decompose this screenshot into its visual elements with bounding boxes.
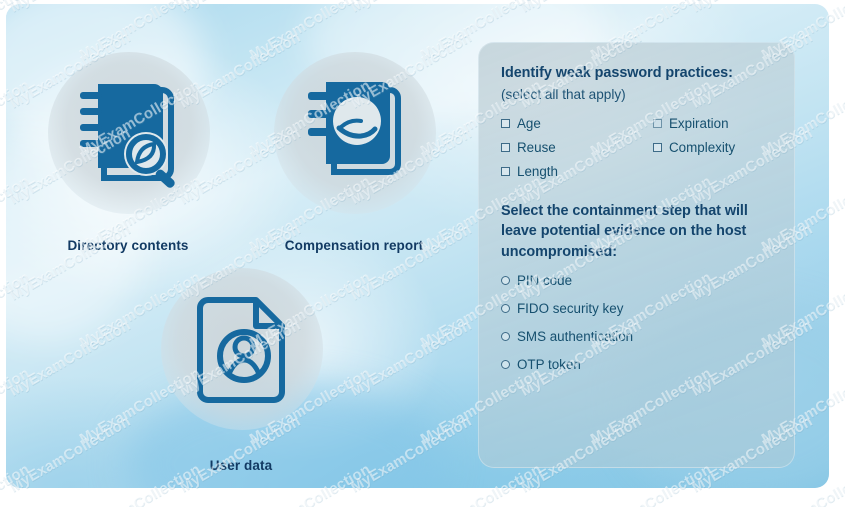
radio-option-pin-code[interactable]: PIN code xyxy=(501,273,772,288)
radio-circle[interactable] xyxy=(501,332,510,341)
question2-options: PIN code FIDO security key SMS authentic… xyxy=(501,273,772,372)
checkbox-option-complexity[interactable]: Complexity xyxy=(653,140,772,155)
radio-label: OTP token xyxy=(517,357,581,372)
checkbox-box[interactable] xyxy=(501,119,510,128)
radio-label: PIN code xyxy=(517,273,572,288)
icon-option-label: User data xyxy=(143,458,339,473)
address-book-search-icon xyxy=(74,78,186,195)
question2-title: Select the containment step that will le… xyxy=(501,201,772,262)
question1-title: Identify weak password practices: xyxy=(501,63,772,83)
checkbox-box[interactable] xyxy=(653,143,662,152)
radio-option-fido-security-key[interactable]: FIDO security key xyxy=(501,301,772,316)
radio-label: FIDO security key xyxy=(517,301,623,316)
checkbox-option-expiration[interactable]: Expiration xyxy=(653,116,772,131)
question1-options: Age Expiration Reuse Complexity Length xyxy=(501,116,772,179)
radio-label: SMS authentication xyxy=(517,329,633,344)
icon-option-label: Directory contents xyxy=(30,238,226,253)
icon-option-directory-contents[interactable]: Directory contents xyxy=(30,48,226,260)
book-helping-hand-icon xyxy=(300,76,412,193)
radio-option-sms-authentication[interactable]: SMS authentication xyxy=(501,329,772,344)
checkbox-box[interactable] xyxy=(501,167,510,176)
radio-circle[interactable] xyxy=(501,360,510,369)
checkbox-label: Expiration xyxy=(669,116,729,131)
radio-circle[interactable] xyxy=(501,276,510,285)
checkbox-label: Reuse xyxy=(517,140,556,155)
icon-option-compensation-report[interactable]: Compensation report xyxy=(256,48,452,260)
document-user-icon xyxy=(190,294,298,411)
question1-subtitle: (select all that apply) xyxy=(501,86,772,104)
checkbox-option-reuse[interactable]: Reuse xyxy=(501,140,653,155)
checkbox-box[interactable] xyxy=(501,143,510,152)
screenshot-root: Directory contents xyxy=(0,0,845,507)
checkbox-label: Complexity xyxy=(669,140,735,155)
icon-options-area: Directory contents xyxy=(6,4,472,488)
checkbox-label: Age xyxy=(517,116,541,131)
radio-circle[interactable] xyxy=(501,304,510,313)
icon-option-user-data[interactable]: User data xyxy=(143,262,339,474)
checkbox-option-age[interactable]: Age xyxy=(501,116,653,131)
icon-option-label: Compensation report xyxy=(256,238,452,253)
checkbox-label: Length xyxy=(517,164,558,179)
questions-panel: Identify weak password practices: (selec… xyxy=(478,42,795,468)
checkbox-box[interactable] xyxy=(653,119,662,128)
checkbox-option-length[interactable]: Length xyxy=(501,164,653,179)
radio-option-otp-token[interactable]: OTP token xyxy=(501,357,772,372)
